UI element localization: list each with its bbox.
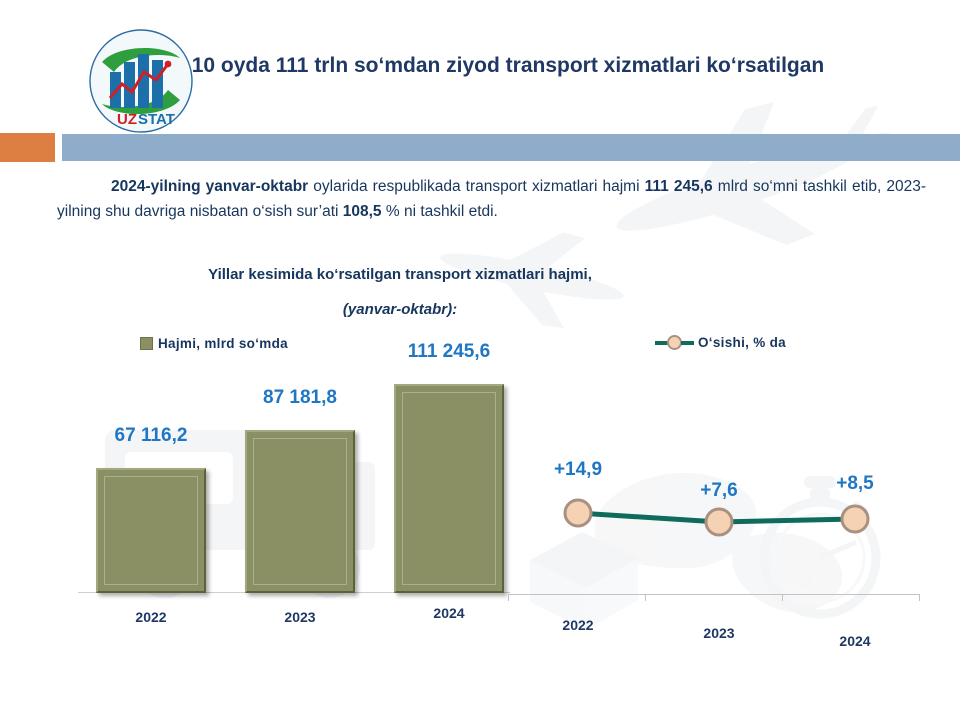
paragraph-bold-rate: 108,5 (343, 203, 382, 220)
bar-2022 (96, 468, 206, 593)
svg-text:STAT: STAT (138, 111, 175, 128)
line-category-2024: 2024 (800, 633, 910, 649)
bar-value-2023: 87 181,8 (235, 387, 365, 409)
bar-value-2022: 67 116,2 (86, 425, 216, 447)
line-value-2022: +14,9 (523, 459, 633, 481)
slide: UZ STAT 10 oyda 111 trln so‘mdan ziyod t… (0, 0, 960, 720)
chart-subtitle: (yanvar-oktabr): (100, 301, 700, 318)
bar-2024 (394, 384, 504, 593)
svg-text:UZ: UZ (117, 111, 137, 128)
line-chart: +14,9 +7,6 +8,5 2022 2023 2024 (508, 355, 928, 655)
bar-category-2024: 2024 (394, 605, 504, 621)
line-value-2023: +7,6 (664, 480, 774, 502)
legend-growth-label: O‘sishi, % da (698, 335, 786, 350)
growth-line-series (508, 355, 928, 655)
paragraph-bold-period: 2024-yilning yanvar-oktabr (111, 178, 308, 195)
summary-paragraph: 2024-yilning yanvar-oktabr oylarida resp… (57, 174, 926, 224)
legend-volume: Hajmi, mlrd so‘mda (140, 336, 288, 351)
paragraph-bold-volume: 111 245,6 (645, 178, 713, 195)
bar-category-2023: 2023 (245, 609, 355, 625)
line-value-2024: +8,5 (800, 473, 910, 495)
legend-line-segment-icon (681, 341, 694, 345)
bar-category-2022: 2022 (96, 609, 206, 625)
line-category-2022: 2022 (523, 617, 633, 633)
bar-column (245, 430, 355, 593)
chart-title: Yillar kesimida ko‘rsatilgan transport x… (100, 265, 700, 285)
bar-2023 (245, 430, 355, 593)
legend-growth: O‘sishi, % da (655, 335, 786, 350)
bar-chart: 67 116,2 2022 87 181,8 2023 111 245,6 20… (78, 355, 510, 655)
orange-accent-band (0, 133, 55, 162)
bar-column (394, 384, 504, 593)
charts-container: Yillar kesimida ko‘rsatilgan transport x… (0, 255, 960, 655)
page-title: 10 oyda 111 trln so‘mdan ziyod transport… (188, 52, 828, 80)
bar-column (96, 468, 206, 593)
legend-marker-icon (667, 335, 682, 350)
paragraph-text-3: % ni tashkil etdi. (382, 203, 498, 220)
paragraph-text-1: oylarida respublikada transport xizmatla… (308, 178, 644, 195)
legend-volume-label: Hajmi, mlrd so‘mda (158, 336, 288, 351)
legend-swatch-icon (140, 337, 153, 350)
blue-header-band (62, 134, 960, 161)
line-category-2023: 2023 (664, 625, 774, 641)
uzstat-logo: UZ STAT (88, 28, 194, 134)
bar-value-2024: 111 245,6 (379, 341, 519, 363)
